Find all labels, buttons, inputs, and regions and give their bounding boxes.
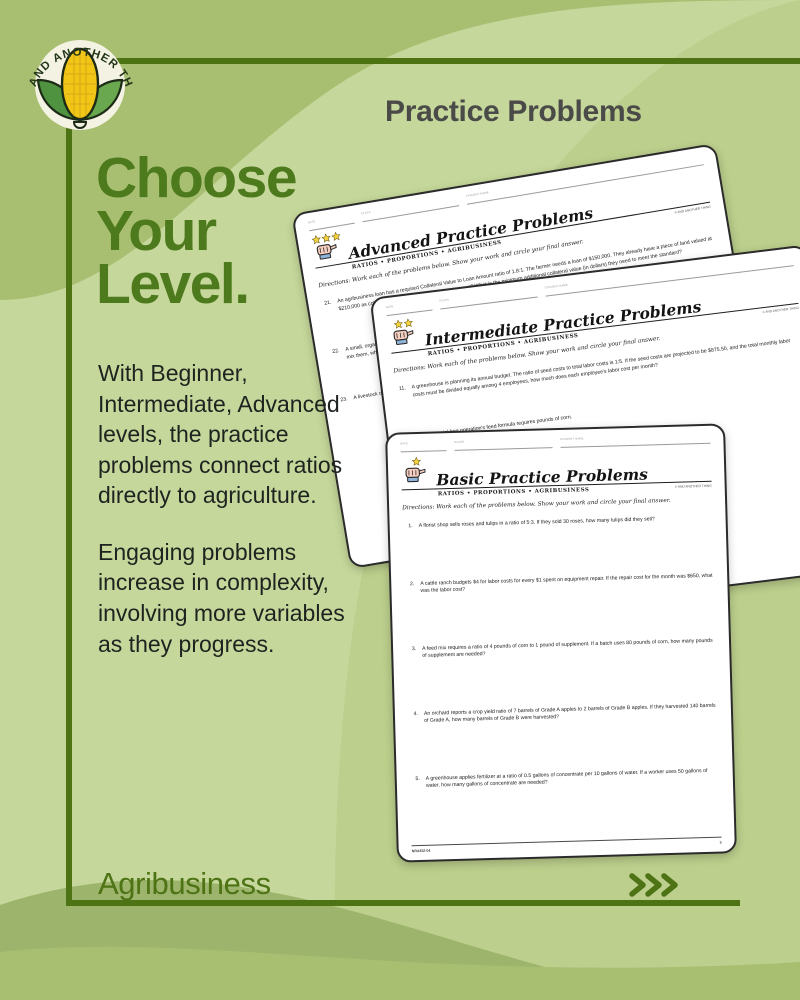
problem-item: 5. A greenhouse applies fertilizer at a … xyxy=(410,767,720,791)
problem-text: An orchard reports a crop yield ratio of… xyxy=(424,702,718,725)
date-field[interactable]: DATE xyxy=(400,442,446,452)
worksheet-footer: NRAEIZ-04 3 xyxy=(412,837,722,854)
page-title: Practice Problems xyxy=(385,95,642,129)
decorative-frame-top-extension xyxy=(66,58,800,64)
corn-stem xyxy=(74,122,86,128)
mascot-icon xyxy=(310,231,345,267)
date-field[interactable]: DATE xyxy=(386,302,433,317)
problem-item: 3. A feed mix requires a ratio of 4 poun… xyxy=(406,637,716,661)
student-name-field[interactable]: STUDENT NAME xyxy=(560,435,710,448)
worksheet-page-number: 3 xyxy=(720,841,722,845)
worksheet-brand-mark: © AND ANOTHER THING xyxy=(762,306,799,314)
problem-text: A greenhouse applies fertilizer at a rat… xyxy=(426,767,720,790)
worksheet-brand-mark: © AND ANOTHER THING xyxy=(675,484,712,489)
headline-line-2: Your xyxy=(96,205,296,258)
problem-item: 1. A florist shop sells roses and tulips… xyxy=(403,515,713,531)
body-paragraph-2: Engaging problems increase in complexity… xyxy=(98,537,348,659)
subject-label: Agribusiness xyxy=(98,866,271,902)
body-paragraph-1: With Beginner, Intermediate, Advanced le… xyxy=(98,358,348,511)
problem-number: 11. xyxy=(396,385,408,401)
mascot-icon xyxy=(387,317,421,351)
problem-item: 2. A cattle ranch budgets $4 for labor c… xyxy=(404,572,714,596)
problem-number: 21. xyxy=(321,300,333,317)
raised-fist-icon xyxy=(312,240,342,261)
triple-chevron-right-icon xyxy=(628,872,688,898)
problem-text: A feed mix requires a ratio of 4 pounds … xyxy=(422,637,716,660)
worksheet-subtitle: RATIOS • PROPORTIONS • AGRIBUSINESS xyxy=(402,487,590,498)
problem-number: 1. xyxy=(403,523,413,531)
problem-number: 2. xyxy=(404,581,414,596)
class-field[interactable]: CLASS xyxy=(454,439,552,451)
problem-text: A cattle ranch budgets $4 for labor cost… xyxy=(420,572,714,595)
raised-fist-icon xyxy=(389,327,419,347)
headline: Choose Your Level. xyxy=(96,152,296,311)
problem-number: 5. xyxy=(410,776,420,791)
worksheet-basic[interactable]: DATE CLASS STUDENT NAME Basic Practi xyxy=(385,423,737,862)
body-copy: With Beginner, Intermediate, Advanced le… xyxy=(98,358,348,659)
problem-text: A florist shop sells roses and tulips in… xyxy=(419,515,713,531)
mascot-icon xyxy=(401,457,432,489)
worksheet-directions: Directions: Work each of the problems be… xyxy=(402,497,712,512)
brand-logo: AND ANOTHER THING xyxy=(20,22,140,142)
worksheet-footer-code: NRAEIZ-04 xyxy=(412,849,431,854)
headline-line-3: Level. xyxy=(96,258,296,311)
problem-item: 4. An orchard reports a crop yield ratio… xyxy=(408,702,718,726)
headline-line-1: Choose xyxy=(96,152,296,205)
problem-number: 4. xyxy=(408,711,418,726)
problem-number: 3. xyxy=(406,646,416,661)
raised-fist-icon xyxy=(401,466,429,484)
